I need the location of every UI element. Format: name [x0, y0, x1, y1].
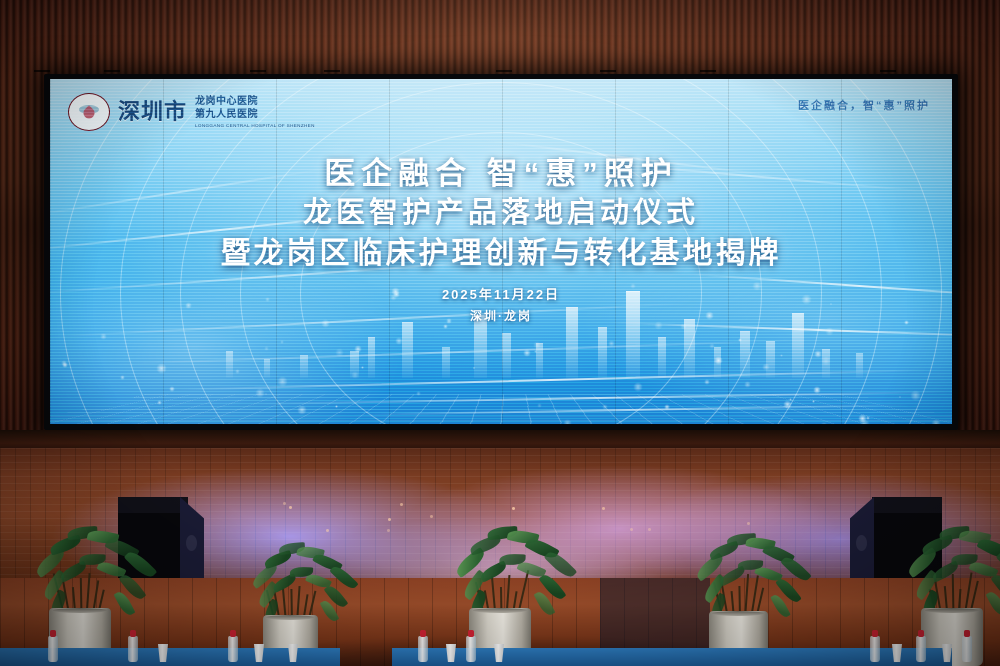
plant-foliage — [290, 547, 291, 623]
plant-foliage — [738, 537, 739, 619]
water-bottle[interactable] — [916, 636, 926, 662]
led-screen-display[interactable]: 深圳市 龙岗中心医院 第九人民医院 LONGGANG CENTRAL HOSPI… — [50, 79, 952, 424]
speaker-driver-icon — [186, 535, 197, 551]
speaker-top-face — [872, 497, 942, 513]
plant-foliage — [80, 531, 81, 617]
water-bottle[interactable] — [228, 636, 238, 662]
water-bottle[interactable] — [962, 636, 972, 662]
water-bottle[interactable] — [870, 636, 880, 662]
plant-foliage — [500, 531, 501, 617]
speaker-top-face — [118, 497, 188, 513]
event-stage-photo: 深圳市 龙岗中心医院 第九人民医院 LONGGANG CENTRAL HOSPI… — [0, 0, 1000, 666]
water-bottle[interactable] — [128, 636, 138, 662]
foreground-table — [0, 640, 1000, 666]
water-bottle[interactable] — [48, 636, 58, 662]
plant-foliage — [952, 531, 953, 617]
led-scanline-overlay — [50, 79, 952, 424]
table-skirt-right — [392, 648, 952, 666]
led-screen-bezel: 深圳市 龙岗中心医院 第九人民医院 LONGGANG CENTRAL HOSPI… — [44, 74, 958, 430]
water-bottle[interactable] — [418, 636, 428, 662]
water-bottle[interactable] — [466, 636, 476, 662]
speaker-driver-icon — [856, 535, 867, 551]
